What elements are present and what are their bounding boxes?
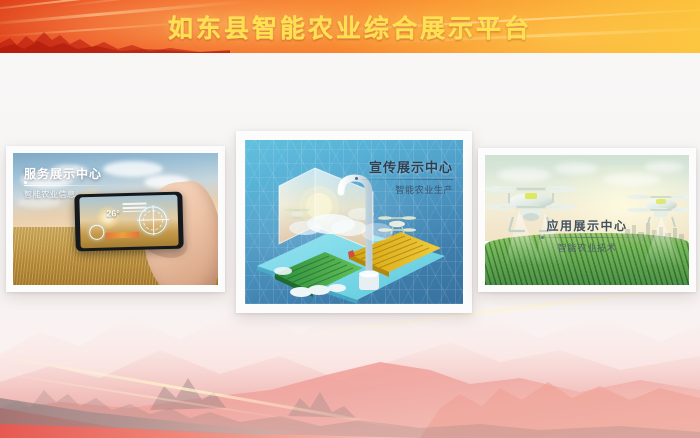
hud-temperature: 26° — [106, 208, 120, 218]
card-2-bullet-dot — [355, 177, 358, 180]
card-2-artwork: 宣传展示中心 智能农业生产 — [245, 140, 463, 304]
card-2-caption: 宣传展示中心 智能农业生产 — [357, 157, 453, 196]
card-1-title: 服务展示中心 — [24, 165, 110, 182]
card-1-artwork: 26° 服务展示中心 智能农业信息 — [13, 153, 218, 285]
card-2-subtitle: 智能农业生产 — [357, 183, 453, 196]
cloud — [103, 161, 163, 177]
card-application-display-center[interactable]: 应用展示中心 智能农业技术 — [478, 148, 696, 292]
card-publicity-display-center[interactable]: 宣传展示中心 智能农业生产 — [236, 131, 472, 313]
card-3-artwork: 应用展示中心 智能农业技术 — [485, 155, 689, 285]
hud-strip — [105, 231, 139, 238]
page-title: 如东县智能农业综合展示平台 — [0, 9, 700, 45]
card-3-title: 应用展示中心 — [537, 217, 637, 234]
smartphone: 26° — [74, 191, 183, 251]
hud-gauge-small — [89, 224, 104, 239]
card-3-caption: 应用展示中心 智能农业技术 — [537, 217, 637, 254]
phone-screen: 26° — [79, 194, 178, 248]
card-3-subtitle: 智能农业技术 — [537, 241, 637, 254]
card-1-caption: 服务展示中心 智能农业信息 — [24, 165, 110, 200]
card-1-divider — [24, 185, 110, 186]
header-light-streak — [56, 0, 237, 8]
card-service-display-center[interactable]: 26° 服务展示中心 智能农业信息 — [6, 146, 225, 292]
hud-tick — [152, 205, 154, 235]
card-1-bullet-dot — [24, 181, 27, 184]
card-3-divider — [537, 237, 637, 238]
page-header-banner: 如东县智能农业综合展示平台 — [0, 0, 700, 53]
card-1-subtitle: 智能农业信息 — [24, 189, 110, 200]
card-2-title: 宣传展示中心 — [357, 157, 453, 176]
card-3-bullet-dot — [541, 236, 544, 239]
platform-landing-page: 如东县智能农业综合展示平台 — [0, 0, 700, 438]
card-2-divider — [357, 179, 453, 180]
